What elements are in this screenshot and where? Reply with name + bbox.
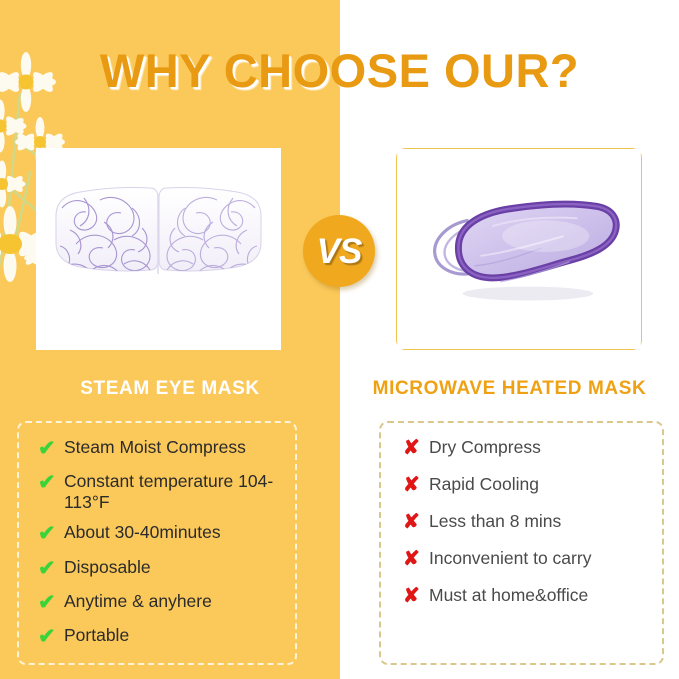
check-icon: ✔ <box>38 557 64 581</box>
list-item: ✔ Disposable <box>19 557 295 581</box>
left-feature-list: ✔ Steam Moist Compress ✔ Constant temper… <box>19 423 295 649</box>
feature-text: Constant temperature 104-113°F <box>64 471 295 512</box>
microwave-heated-mask-photo <box>397 149 641 349</box>
list-item: ✘ Rapid Cooling <box>381 474 662 497</box>
feature-text: Anytime & anyhere <box>64 591 295 612</box>
right-product-card <box>396 148 642 350</box>
feature-text: Rapid Cooling <box>429 474 662 495</box>
check-icon: ✔ <box>38 591 64 615</box>
left-product-card <box>36 148 281 350</box>
feature-text: Portable <box>64 625 295 646</box>
list-item: ✘ Dry Compress <box>381 437 662 460</box>
list-item: ✘ Inconvenient to carry <box>381 548 662 571</box>
feature-text: Must at home&office <box>429 585 662 606</box>
list-item: ✘ Must at home&office <box>381 585 662 608</box>
list-item: ✔ Steam Moist Compress <box>19 437 295 461</box>
feature-text: Less than 8 mins <box>429 511 662 532</box>
right-feature-box: ✘ Dry Compress ✘ Rapid Cooling ✘ Less th… <box>379 421 664 665</box>
right-product-label: MICROWAVE HEATED MASK <box>340 378 679 400</box>
cross-icon: ✘ <box>403 511 429 534</box>
vs-label: VS <box>317 234 362 269</box>
list-item: ✔ About 30-40minutes <box>19 522 295 546</box>
cross-icon: ✘ <box>403 437 429 460</box>
feature-text: Dry Compress <box>429 437 662 458</box>
feature-text: Inconvenient to carry <box>429 548 662 569</box>
list-item: ✘ Less than 8 mins <box>381 511 662 534</box>
cross-icon: ✘ <box>403 585 429 608</box>
list-item: ✔ Constant temperature 104-113°F <box>19 471 295 512</box>
feature-text: Disposable <box>64 557 295 578</box>
list-item: ✔ Anytime & anyhere <box>19 591 295 615</box>
cross-icon: ✘ <box>403 548 429 571</box>
right-feature-list: ✘ Dry Compress ✘ Rapid Cooling ✘ Less th… <box>381 423 662 608</box>
vs-badge: VS <box>303 215 375 287</box>
cross-icon: ✘ <box>403 474 429 497</box>
check-icon: ✔ <box>38 437 64 461</box>
comparison-infographic: WHY CHOOSE OUR? <box>0 0 679 679</box>
left-product-label: STEAM EYE MASK <box>0 378 340 400</box>
left-feature-box: ✔ Steam Moist Compress ✔ Constant temper… <box>17 421 297 665</box>
list-item: ✔ Portable <box>19 625 295 649</box>
feature-text: Steam Moist Compress <box>64 437 295 458</box>
check-icon: ✔ <box>38 522 64 546</box>
feature-text: About 30-40minutes <box>64 522 295 543</box>
steam-eye-mask-photo <box>36 148 281 350</box>
page-title: WHY CHOOSE OUR? <box>0 43 679 98</box>
check-icon: ✔ <box>38 471 64 495</box>
check-icon: ✔ <box>38 625 64 649</box>
